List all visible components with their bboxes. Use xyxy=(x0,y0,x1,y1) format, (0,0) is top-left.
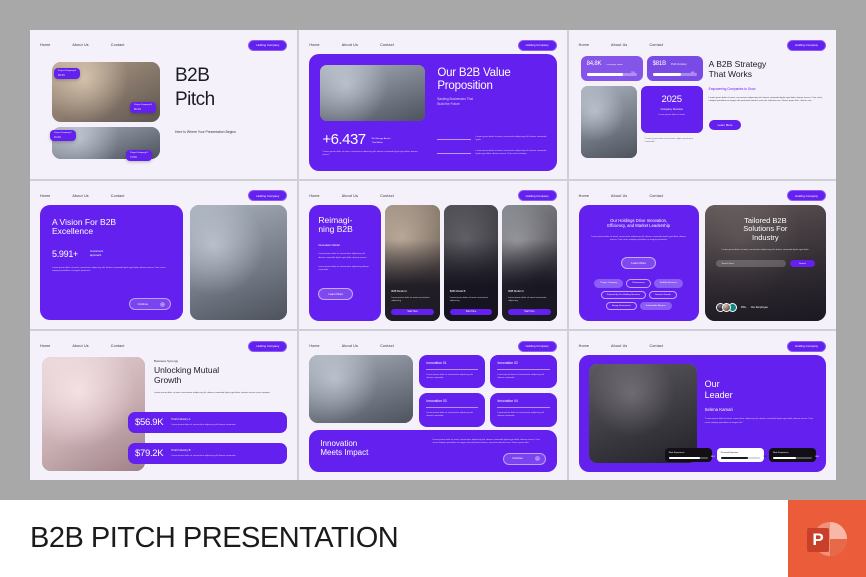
holdings-heading-2: Efficiency, and Market Leadership xyxy=(591,223,687,228)
reimagining-eyebrow: Generation Model xyxy=(318,244,372,248)
nav-cta-button[interactable]: Holding Company xyxy=(518,190,557,201)
stat-label: Company Value xyxy=(606,64,622,66)
learn-more-button[interactable]: Learn More xyxy=(709,120,742,130)
innovation-photo xyxy=(309,355,413,423)
stat-card-company-value: 84,8K Company Value 72% xyxy=(581,56,643,81)
skill-value: 60% xyxy=(815,456,819,458)
stat-label: Profit Company xyxy=(671,64,687,66)
year-label: Company Success xyxy=(647,108,697,112)
continue-button[interactable]: Continue → xyxy=(129,298,171,310)
skill-label: Work Experience xyxy=(773,452,812,454)
tailored-heading-3: Industry xyxy=(716,234,815,243)
page-title-line2: Pitch xyxy=(175,90,283,110)
innovation-card-body: Lorem ipsum dolor sit consectetur adipis… xyxy=(497,412,549,419)
continue-button-label: Continue xyxy=(512,457,522,460)
search-input[interactable]: Search Here xyxy=(716,260,786,268)
innovation-card-title: Innovation 04 xyxy=(497,399,549,403)
nav-cta-button[interactable]: Holding Company xyxy=(787,40,826,51)
stat-chip: Project Company A 95.3% xyxy=(54,68,80,79)
profit-title: Profit Industry A xyxy=(171,418,236,422)
slide-nav: Home About Us Contact Holding Company xyxy=(299,190,566,202)
stat-progress-value: 72% xyxy=(631,72,635,74)
reimagining-body-2: Lorem ipsum dolor sit consectetur adipis… xyxy=(318,266,372,273)
reimagining-intro-card: Reimagi- ning B2B Generation Model Lorem… xyxy=(309,205,381,322)
holdings-tag[interactable]: Stability Business xyxy=(654,279,683,287)
title-subtitle: Here Is Where Your Presentation Begins xyxy=(175,130,283,134)
strategy-body: Lorem ipsum dolor sit amet, consectetur … xyxy=(709,97,824,104)
metric-label-2: That Matter xyxy=(372,142,391,145)
holdings-body: Lorem ipsum dolor sit amet, consectetur … xyxy=(591,236,687,243)
leader-card: Our Leader Selena Kamari "Lorem ipsum do… xyxy=(579,355,826,472)
metric-block: +6.437 We Manage Assets That Matter "Lor… xyxy=(322,132,422,158)
arrow-right-icon: → xyxy=(535,456,540,461)
stat-card-profit: $81B Profit Company 64% xyxy=(647,56,703,81)
slide-nav: Home About Us Contact Holding Company xyxy=(30,190,297,202)
innovation-card-title: Innovation 01 xyxy=(426,361,478,365)
reimagining-body-1: Lorem ipsum dolor sit consectetur adipis… xyxy=(318,253,372,260)
nav-item-contact[interactable]: Contact xyxy=(649,43,663,47)
skill-label: Personal Expertise xyxy=(721,452,760,454)
nav-item-home[interactable]: Home xyxy=(40,344,50,348)
growth-heading-2: Growth xyxy=(154,376,287,386)
start-here-button[interactable]: Start Here xyxy=(450,309,492,316)
skill-card: Work Experience 80% xyxy=(665,448,712,462)
page-title-line1: B2B xyxy=(175,66,283,86)
model-card-text: Lorem ipsum dolor sit amet consectetur a… xyxy=(508,297,550,304)
profit-value: $79.2K xyxy=(135,448,163,459)
nav-item-contact[interactable]: Contact xyxy=(111,43,125,47)
value-proposition-heading: Our B2B Value Proposition xyxy=(437,67,544,92)
slide-value-proposition[interactable]: Home About Us Contact Holding Company Ou… xyxy=(299,30,566,179)
title-text-block: B2B Pitch Here Is Where Your Presentatio… xyxy=(175,66,283,134)
nav-item-contact[interactable]: Contact xyxy=(380,344,394,348)
profit-card-b: $79.2K Profit Industry B Lorem ipsum dol… xyxy=(128,443,287,464)
stat-chip-value: 95.3% xyxy=(58,74,76,77)
year-subtext: Lorem ipsum dolor sit amet xyxy=(647,114,697,117)
slide-strategy[interactable]: Home About Us Contact Holding Company 84… xyxy=(569,30,836,179)
vision-stat-value: 5.991+ xyxy=(52,249,78,259)
holdings-tag[interactable]: Performance xyxy=(626,279,651,287)
strategy-text-block: A B2B Strategy That Works Empowering Com… xyxy=(709,60,824,131)
learn-more-button[interactable]: Learn More xyxy=(318,288,353,300)
nav-item-home[interactable]: Home xyxy=(309,43,319,47)
search-row: Search Here Search xyxy=(716,260,815,268)
nav-item-about[interactable]: About Us xyxy=(342,43,358,47)
model-card-text: Lorem ipsum dolor sit amet consectetur a… xyxy=(391,297,433,304)
tailored-body: Lorem ipsum dolor sit amet, consectetur … xyxy=(716,249,815,252)
divider xyxy=(497,407,549,408)
profit-body: Lorem ipsum dolor sit consectetur adipis… xyxy=(171,424,236,427)
nav-item-about[interactable]: About Us xyxy=(72,194,88,198)
leader-quote: "Lorem ipsum dolor sit amet, consectetur… xyxy=(705,418,815,425)
model-card[interactable]: B2B Model C Lorem ipsum dolor sit amet c… xyxy=(502,205,556,322)
footer-title: B2B PITCH PRESENTATION xyxy=(0,522,398,555)
holdings-tag[interactable]: Sustainable Returns xyxy=(640,302,672,310)
stat-chip-value: 91.2% xyxy=(54,136,72,139)
stat-value: 84,8K xyxy=(587,61,602,67)
nav-item-about[interactable]: About Us xyxy=(342,194,358,198)
nav-item-home[interactable]: Home xyxy=(40,194,50,198)
vision-body: Lorem ipsum dolor sit amet, consectetur … xyxy=(52,267,171,274)
model-card[interactable]: B2B Model A Lorem ipsum dolor sit amet c… xyxy=(385,205,439,322)
nav-item-about[interactable]: About Us xyxy=(342,344,358,348)
office-photo xyxy=(581,86,637,158)
slide-growth[interactable]: Home About Us Contact Holding Company Bu… xyxy=(30,331,297,480)
nav-item-home[interactable]: Home xyxy=(40,43,50,47)
stat-chip-label: Project Company C xyxy=(54,132,72,134)
holdings-card: Our Holdings Drive Innovation, Efficienc… xyxy=(579,205,699,322)
innovation-card[interactable]: Innovation 01 Lorem ipsum dolor sit cons… xyxy=(419,355,485,388)
leader-skill-list: Work Experience 80% Personal Expertise 7… xyxy=(665,448,816,462)
skill-value: 80% xyxy=(711,456,715,458)
nav-item-about[interactable]: About Us xyxy=(72,43,88,47)
model-card-title: B2B Model A xyxy=(391,290,433,294)
nav-item-about[interactable]: About Us xyxy=(72,344,88,348)
holdings-tag[interactable]: Powered by Our Holding Structure xyxy=(601,291,646,299)
model-card-title: B2B Model B xyxy=(450,290,492,294)
value-proposition-heading-block: Our B2B Value Proposition Backing Busine… xyxy=(437,67,544,107)
learn-more-button[interactable]: Learn More xyxy=(621,257,656,269)
nav-item-home[interactable]: Home xyxy=(579,43,589,47)
profit-body: Lorem ipsum dolor sit consectetur adipis… xyxy=(171,455,236,458)
footer-bar: B2B PITCH PRESENTATION P xyxy=(0,500,866,577)
nav-cta-button[interactable]: Holding Company xyxy=(787,190,826,201)
innovation-card[interactable]: Innovation 03 Lorem ipsum dolor sit cons… xyxy=(419,393,485,426)
reimagining-heading-2: ning B2B xyxy=(318,225,372,235)
profit-card-a: $56.9K Profit Industry A Lorem ipsum dol… xyxy=(128,412,287,433)
stat-chip-label: Project Company D xyxy=(130,152,148,154)
nav-item-contact[interactable]: Contact xyxy=(649,344,663,348)
avatar xyxy=(722,303,731,312)
innovation-card-grid: Innovation 01 Lorem ipsum dolor sit cons… xyxy=(419,355,556,426)
value-bullet-row: Lorem ipsum dolor sit amet, consectetur … xyxy=(437,150,547,157)
strategy-eyebrow: Empowering Companies to Grow xyxy=(709,87,824,92)
slide-innovation[interactable]: Home About Us Contact Holding Company In… xyxy=(299,331,566,480)
innovation-heading-1: Innovation xyxy=(320,439,420,448)
powerpoint-icon: P xyxy=(807,519,847,559)
start-here-button[interactable]: Start Here xyxy=(508,309,550,316)
leader-text-block: Our Leader Selena Kamari "Lorem ipsum do… xyxy=(705,379,815,425)
holdings-tag[interactable]: Project Company xyxy=(594,279,623,287)
bullet-rule xyxy=(437,139,471,140)
slide-holdings[interactable]: Home About Us Contact Holding Company Ou… xyxy=(569,181,836,330)
nav-item-contact[interactable]: Contact xyxy=(111,194,125,198)
slide-nav: Home About Us Contact Holding Company xyxy=(30,39,297,51)
nav-cta-button[interactable]: Holding Company xyxy=(248,341,287,352)
slide-leader[interactable]: Home About Us Contact Holding Company Ou… xyxy=(569,331,836,480)
slide-grid: Home About Us Contact Holding Company Pr… xyxy=(30,30,836,480)
slide-nav: Home About Us Contact Holding Company xyxy=(299,39,566,51)
vision-card: A Vision For B2B Excellence 5.991+ Inves… xyxy=(40,205,183,321)
holdings-tag[interactable]: Strong Governance xyxy=(606,302,637,310)
stat-progress-bar: 72% xyxy=(587,73,637,76)
innovation-card[interactable]: Innovation 02 Lorem ipsum dolor sit cons… xyxy=(490,355,556,388)
start-here-button[interactable]: Start Here xyxy=(391,309,433,316)
nav-item-home[interactable]: Home xyxy=(579,344,589,348)
continue-button-label: Continue xyxy=(138,303,148,306)
profit-value: $56.9K xyxy=(135,417,163,428)
nav-item-home[interactable]: Home xyxy=(309,344,319,348)
slide-nav: Home About Us Contact Holding Company xyxy=(569,39,836,51)
year-card: 2025 Company Success Lorem ipsum dolor s… xyxy=(641,86,703,133)
skill-card: Work Experience 60% xyxy=(769,448,816,462)
slide-reimagining[interactable]: Home About Us Contact Holding Company Re… xyxy=(299,181,566,330)
skill-card: Personal Expertise 70% xyxy=(717,448,764,462)
nav-item-home[interactable]: Home xyxy=(309,194,319,198)
slide-vision[interactable]: Home About Us Contact Holding Company A … xyxy=(30,181,297,330)
nav-item-contact[interactable]: Contact xyxy=(649,194,663,198)
nav-cta-button[interactable]: Holding Company xyxy=(518,40,557,51)
nav-cta-button[interactable]: Holding Company xyxy=(787,341,826,352)
slide-nav: Home About Us Contact Holding Company xyxy=(299,340,566,352)
bullet-rule xyxy=(437,153,471,154)
skill-progress-bar: 60% xyxy=(773,457,812,459)
employee-count: 150+ xyxy=(741,306,747,310)
skill-progress-bar: 80% xyxy=(669,457,708,459)
leader-heading-2: Leader xyxy=(705,390,815,400)
vision-heading-2: Excellence xyxy=(52,227,171,237)
innovation-card-body: Lorem ipsum dolor sit consectetur adipis… xyxy=(426,374,478,381)
skill-progress-bar: 70% xyxy=(721,457,760,459)
powerpoint-badge: P xyxy=(788,500,866,577)
employee-count-row: 150+ Our Employee xyxy=(716,303,768,312)
divider xyxy=(426,369,478,370)
nav-item-contact[interactable]: Contact xyxy=(111,344,125,348)
powerpoint-letter: P xyxy=(807,528,829,552)
innovation-heading-2: Meets Impact xyxy=(320,448,420,457)
tailored-solutions-card: Tailored B2B Solutions For Industry Lore… xyxy=(705,205,826,322)
nav-item-about[interactable]: About Us xyxy=(611,194,627,198)
metric-quote: "Lorem ipsum dolor sit amet, consectetur… xyxy=(322,151,422,158)
innovation-band: Innovation Meets Impact Lorem ipsum dolo… xyxy=(309,430,556,472)
holdings-tag[interactable]: Smarter Growth xyxy=(649,291,676,299)
model-card-text: Lorem ipsum dolor sit amet consectetur a… xyxy=(450,297,492,304)
nav-item-home[interactable]: Home xyxy=(579,194,589,198)
slide-title[interactable]: Home About Us Contact Holding Company Pr… xyxy=(30,30,297,179)
stat-chip: Project Company D 74.5% xyxy=(126,150,152,161)
nav-cta-button[interactable]: Holding Company xyxy=(518,341,557,352)
leader-heading-1: Our xyxy=(705,379,815,389)
vision-photo xyxy=(190,205,287,321)
continue-button[interactable]: Continue → xyxy=(503,453,545,465)
skill-label: Work Experience xyxy=(669,452,708,454)
stat-chip-label: Project Company A xyxy=(58,70,76,72)
profit-title: Profit Industry B xyxy=(171,449,236,453)
slide-nav: Home About Us Contact Holding Company xyxy=(569,340,836,352)
holdings-tag-list: Project Company Performance Stability Bu… xyxy=(591,279,687,310)
nav-item-contact[interactable]: Contact xyxy=(380,43,394,47)
value-proposition-subheading-2: Build the Future xyxy=(437,102,544,107)
vision-stat: 5.991+ Investment approach xyxy=(52,249,171,259)
innovation-card-body: Lorem ipsum dolor sit consectetur adipis… xyxy=(426,412,478,419)
value-bullet-text: Lorem ipsum dolor sit amet, consectetur … xyxy=(476,136,547,143)
innovation-card-title: Innovation 03 xyxy=(426,399,478,403)
year-value: 2025 xyxy=(647,94,697,105)
model-card-body: B2B Model C Lorem ipsum dolor sit amet c… xyxy=(508,290,550,315)
nav-cta-button[interactable]: Holding Company xyxy=(248,190,287,201)
nav-item-contact[interactable]: Contact xyxy=(380,194,394,198)
stat-progress-bar: 64% xyxy=(653,73,697,76)
team-photo xyxy=(320,65,425,121)
arrow-right-icon: → xyxy=(160,302,165,307)
stat-chip-value: 74.5% xyxy=(130,156,148,159)
model-card-list: B2B Model A Lorem ipsum dolor sit amet c… xyxy=(385,205,556,322)
nav-item-about[interactable]: About Us xyxy=(611,344,627,348)
strategy-quote: "Lorem ipsum dolor consectetur adipiscin… xyxy=(645,138,701,145)
value-bullet-text: Lorem ipsum dolor sit amet, consectetur … xyxy=(476,150,547,157)
divider xyxy=(426,407,478,408)
slide-nav: Home About Us Contact Holding Company xyxy=(30,340,297,352)
stat-value: $81B xyxy=(653,61,666,67)
divider xyxy=(497,369,549,370)
model-card-body: B2B Model A Lorem ipsum dolor sit amet c… xyxy=(391,290,433,315)
innovation-card-body: Lorem ipsum dolor sit consectetur adipis… xyxy=(497,374,549,381)
metric-value: +6.437 xyxy=(322,132,365,147)
strategy-heading-2: That Works xyxy=(709,70,824,80)
value-bullet-row: Lorem ipsum dolor sit amet, consectetur … xyxy=(437,136,547,143)
innovation-band-body: Lorem ipsum dolor sit amet, consectetur … xyxy=(432,439,545,446)
search-button[interactable]: Search xyxy=(790,260,815,268)
growth-body: Lorem ipsum dolor sit amet consectetur a… xyxy=(154,392,287,395)
model-card[interactable]: B2B Model B Lorem ipsum dolor sit amet c… xyxy=(444,205,498,322)
employee-label: Our Employee xyxy=(751,306,768,310)
stat-chip: Project Company C 91.2% xyxy=(50,130,76,141)
stat-chip-label: Project Company B xyxy=(134,104,152,106)
avatar-group xyxy=(716,303,737,312)
skill-value: 70% xyxy=(763,456,767,458)
nav-item-about[interactable]: About Us xyxy=(611,43,627,47)
leader-name: Selena Kamari xyxy=(705,407,815,413)
model-card-body: B2B Model B Lorem ipsum dolor sit amet c… xyxy=(450,290,492,315)
value-bullets: Lorem ipsum dolor sit amet, consectetur … xyxy=(437,136,547,163)
model-card-title: B2B Model C xyxy=(508,290,550,294)
vision-stat-label-2: approach xyxy=(90,254,103,258)
stat-chip: Project Company B 86.1% xyxy=(130,102,156,113)
stat-chip-value: 86.1% xyxy=(134,108,152,111)
growth-text-block: Business Synergy Unlocking Mutual Growth… xyxy=(154,359,287,395)
growth-eyebrow: Business Synergy xyxy=(154,359,287,363)
value-proposition-card: Our B2B Value Proposition Backing Busine… xyxy=(309,54,556,171)
nav-cta-button[interactable]: Holding Company xyxy=(248,40,287,51)
innovation-card[interactable]: Innovation 04 Lorem ipsum dolor sit cons… xyxy=(490,393,556,426)
stat-progress-value: 64% xyxy=(691,72,695,74)
screenshot-root: Home About Us Contact Holding Company Pr… xyxy=(0,0,866,577)
innovation-card-title: Innovation 02 xyxy=(497,361,549,365)
slide-nav: Home About Us Contact Holding Company xyxy=(569,190,836,202)
